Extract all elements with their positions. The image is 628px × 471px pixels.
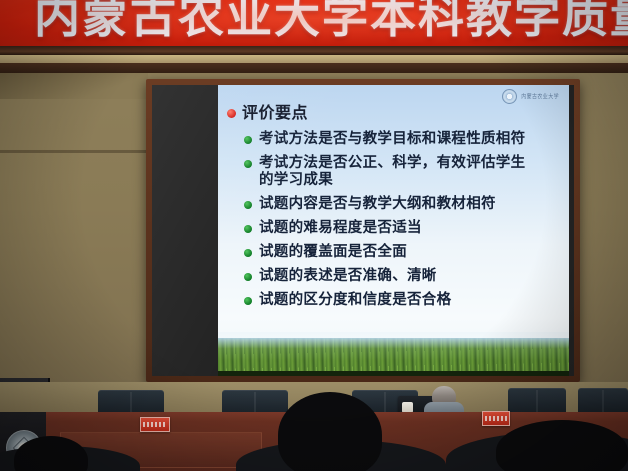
banner-title-text: 内蒙古农业大学本科教学质量报 xyxy=(34,0,628,39)
list-item: 试题内容是否与教学大纲和教材相符 xyxy=(244,196,569,213)
ceiling-trim-upper xyxy=(0,46,628,55)
projection-screen: 内蒙古农业大学 评价要点 考试方法是否与教学目标和课程性质相符 考试方法是否公正… xyxy=(152,85,574,376)
list-item: 试题的覆盖面是否全面 xyxy=(244,244,569,261)
screen-letterbox-right xyxy=(569,85,574,376)
list-item-text: 试题内容是否与教学大纲和教材相符 xyxy=(259,196,496,213)
list-item: 试题的表述是否准确、清晰 xyxy=(244,268,569,285)
list-item: 考试方法是否与教学目标和课程性质相符 xyxy=(244,131,569,148)
list-item: 考试方法是否公正、科学，有效评估学生 的学习成果 xyxy=(244,155,569,189)
list-item-text: 考试方法是否与教学目标和课程性质相符 xyxy=(259,131,525,148)
nameplate-2 xyxy=(482,411,510,426)
list-item-text: 试题的区分度和信度是否合格 xyxy=(259,292,451,309)
slide-title: 评价要点 xyxy=(227,104,569,122)
wall-moulding-line xyxy=(0,150,150,153)
ceiling-trim-dark xyxy=(0,63,628,73)
screen-letterbox-left xyxy=(152,85,218,376)
green-bullet-icon xyxy=(244,201,252,209)
green-bullet-icon xyxy=(244,249,252,257)
logo-line-1: 内蒙古农业大学 xyxy=(521,93,559,101)
green-bullet-icon xyxy=(244,297,252,305)
green-bullet-icon xyxy=(244,225,252,233)
green-bullet-icon xyxy=(244,273,252,281)
wall-bevel xyxy=(0,73,148,99)
slide-bullet-list: 考试方法是否与教学目标和课程性质相符 考试方法是否公正、科学，有效评估学生 的学… xyxy=(227,131,569,309)
university-logo: 内蒙古农业大学 xyxy=(502,89,559,104)
presentation-slide: 内蒙古农业大学 评价要点 考试方法是否与教学目标和课程性质相符 考试方法是否公正… xyxy=(218,85,569,376)
slide-content: 评价要点 考试方法是否与教学目标和课程性质相符 考试方法是否公正、科学，有效评估… xyxy=(227,104,569,316)
list-item-text: 试题的覆盖面是否全面 xyxy=(259,244,407,261)
green-bullet-icon xyxy=(244,160,252,168)
red-bullet-icon xyxy=(227,109,236,118)
list-item: 试题的难易程度是否适当 xyxy=(244,220,569,237)
university-seal-icon xyxy=(502,89,517,104)
list-item-text: 试题的难易程度是否适当 xyxy=(259,220,422,237)
green-bullet-icon xyxy=(244,136,252,144)
red-event-banner: 内蒙古农业大学本科教学质量报 xyxy=(0,0,628,46)
audience-head-center xyxy=(278,392,382,471)
lecture-hall-photo: 内蒙古农业大学本科教学质量报 内蒙古农业大学 评价要点 xyxy=(0,0,628,471)
list-item-text: 考试方法是否公正、科学，有效评估学生 的学习成果 xyxy=(259,155,525,189)
university-logo-text: 内蒙古农业大学 xyxy=(521,93,559,101)
slide-footer-photo-base xyxy=(218,371,569,376)
ceiling-trim-tan xyxy=(0,55,628,63)
nameplate-1 xyxy=(140,417,170,432)
list-item-text: 试题的表述是否准确、清晰 xyxy=(259,268,437,285)
list-item: 试题的区分度和信度是否合格 xyxy=(244,292,569,309)
slide-title-text: 评价要点 xyxy=(242,104,308,122)
